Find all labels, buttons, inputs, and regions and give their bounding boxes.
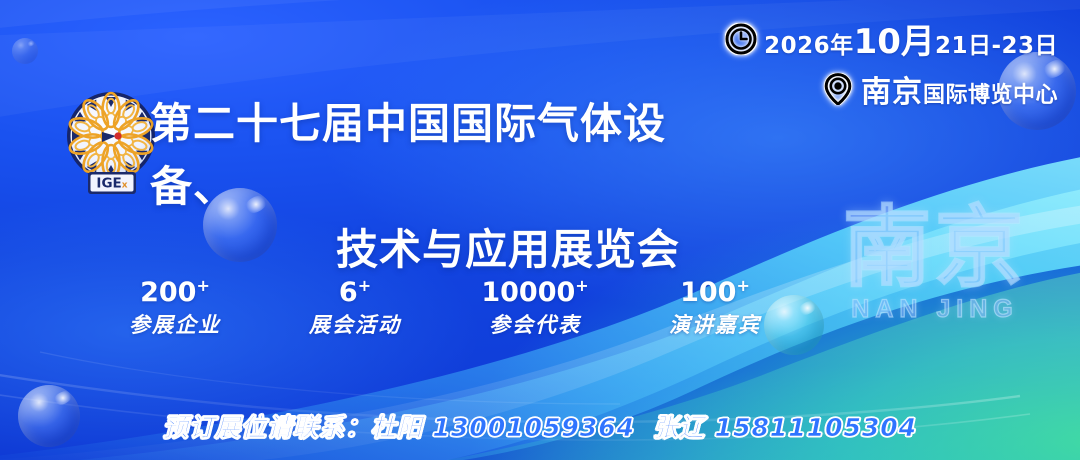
clock-icon [725, 23, 757, 55]
stat-number-plus: + [736, 276, 749, 295]
stat-item: 10000+ 参会代表 [480, 278, 590, 339]
contact-person-1-phone: 13001059364 [433, 413, 635, 442]
stat-number-plus: + [196, 276, 209, 295]
stat-number: 200+ [120, 278, 230, 307]
contact-prefix: 预订展位请联系： [163, 413, 371, 442]
contact-line: 预订展位请联系：杜阳 13001059364张辽 15811105304 [163, 408, 917, 444]
event-venue-row: 南京国际博览中心 [725, 67, 1058, 111]
stat-number: 10000+ [480, 278, 590, 307]
stat-number-plus: + [575, 276, 588, 295]
stat-number: 6+ [300, 278, 410, 307]
decorative-sphere [764, 295, 824, 355]
event-info: 2026年10月21日-23日 南京国际博览中心 [725, 14, 1058, 111]
contact-person-1-name: 杜阳 [371, 413, 423, 442]
stats-row: 200+ 参展企业 6+ 展会活动 10000+ 参会代表 100+ 演讲嘉宾 [120, 278, 770, 339]
stat-label: 参会代表 [480, 309, 590, 339]
stat-item: 200+ 参展企业 [120, 278, 230, 339]
decorative-sphere [12, 38, 38, 64]
event-date-days: 21日-23日 [935, 33, 1058, 59]
event-venue-city: 南京 [861, 75, 923, 110]
event-date-year: 2026年 [764, 33, 854, 59]
title-line-2: 技术与应用展览会 [150, 218, 710, 281]
event-date-text: 2026年10月21日-23日 [764, 14, 1058, 63]
stat-number-value: 6 [339, 277, 358, 308]
stat-label: 演讲嘉宾 [660, 309, 770, 339]
stat-item: 6+ 展会活动 [300, 278, 410, 339]
igex-emblem-icon: IGEx [58, 88, 164, 200]
exhibition-banner: 南京 NAN JING 2026年10月21日-23日 [0, 0, 1080, 460]
title-line-1: 第二十七届中国国际气体设备、 [150, 92, 710, 218]
stat-number-value: 100 [680, 277, 736, 308]
event-venue-text: 南京国际博览中心 [861, 67, 1058, 111]
event-venue-place: 国际博览中心 [923, 83, 1058, 108]
stat-number-plus: + [358, 276, 371, 295]
event-date-month: 10月 [854, 22, 935, 62]
contact-bar: 预订展位请联系：杜阳 13001059364张辽 15811105304 [0, 408, 1080, 444]
stat-number: 100+ [660, 278, 770, 307]
page-title: 第二十七届中国国际气体设备、 技术与应用展览会 [150, 92, 710, 281]
contact-person-2-name: 张辽 [653, 413, 705, 442]
stat-item: 100+ 演讲嘉宾 [660, 278, 770, 339]
location-pin-icon [822, 73, 854, 105]
stat-number-value: 200 [140, 277, 196, 308]
stat-label: 展会活动 [300, 309, 410, 339]
stat-label: 参展企业 [120, 309, 230, 339]
event-date-row: 2026年10月21日-23日 [725, 14, 1058, 63]
contact-person-2-phone: 15811105304 [715, 413, 917, 442]
stat-number-value: 10000 [481, 277, 575, 308]
